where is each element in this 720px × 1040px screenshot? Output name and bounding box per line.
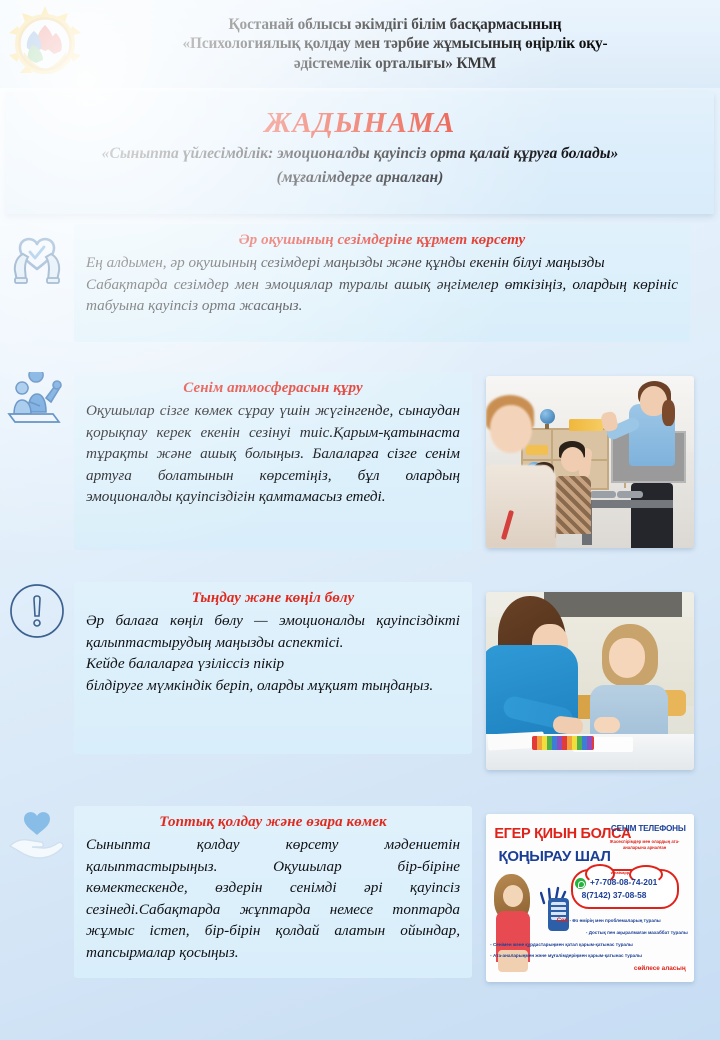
memo-title-band: ЖАДЫНАМА «Сыныпта үйлесімділік: эмоциона… [6, 92, 714, 214]
card-body: Сыныпта қолдау көрсету мәдениетін қалыпт… [86, 834, 460, 963]
poster-bullet-3: - Сенімен және құрдастарыңмен қатал қары… [490, 942, 633, 947]
exclamation-circle-icon-svg [8, 582, 66, 640]
card-paragraph: Әр балаға көңіл бөлу — эмоционалды қауіп… [86, 610, 460, 653]
card-body: Оқушылар сізге көмек сұрау үшін жүгінген… [86, 400, 460, 508]
classroom-high-five-photo [486, 376, 694, 548]
poster-whatsapp-tag: whatsapp [611, 870, 629, 875]
poster-closing: сөйлесе аласың [634, 965, 686, 972]
card-listening-attention: Тыңдау және көңіл бөлу Әр балаға көңіл б… [74, 582, 472, 754]
section-listening-attention: Тыңдау және көңіл бөлу Әр балаға көңіл б… [0, 582, 720, 770]
heart-on-hand-icon-svg [6, 806, 68, 862]
regional-education-center-logo [6, 5, 84, 83]
header-line-1: Қостанай облысы әкімдігі білім басқармас… [86, 15, 704, 35]
poster-trust-phone-label: СЕНІМ ТЕЛЕФОНЫ [611, 824, 686, 833]
card-trust-atmosphere: Сенім атмосферасын құру Оқушылар сізге к… [74, 372, 472, 550]
heart-in-hands-icon [0, 224, 74, 286]
trust-phone-poster: ЕГЕР ҚИЫН БОЛСА ҚОҢЫРАУ ШАЛ СЕНІМ ТЕЛЕФО… [486, 814, 694, 982]
card-title: Сенім атмосферасын құру [86, 379, 460, 398]
teacher-with-girl-photo [486, 592, 694, 770]
page-subtitle-line-1: «Сыныпта үйлесімділік: эмоционалды қауіп… [6, 143, 714, 164]
heart-on-hand-icon [0, 806, 74, 862]
poster-phone-1: +7-708-08-74-201 [590, 877, 657, 887]
poster-bullet-2: - Достық пен ақыралмаған махаббат туралы [586, 930, 688, 935]
page-title: ЖАДЫНАМА [6, 106, 714, 140]
section-trust-atmosphere: Сенім атмосферасын құру Оқушылар сізге к… [0, 372, 720, 550]
poster-bullet-1: Сен - Өз өмірің мен проблемаларың туралы [557, 918, 661, 924]
mobile-phone-icon [548, 898, 569, 931]
poster-headline-blue: ҚОҢЫРАУ ШАЛ [498, 848, 610, 865]
poster-bullet-1-text: - Өз өмірің мен проблемаларың туралы [570, 918, 661, 923]
poster-trust-phone-sub: Жасөспірімдер мен олардың ата-аналарына … [606, 839, 684, 851]
students-raising-hand-icon [0, 372, 74, 428]
card-title: Тыңдау және көңіл бөлу [86, 589, 460, 608]
card-paragraph: Кейде балаларға үзіліссіз пікір [86, 653, 460, 675]
header-title-block: Қостанай облысы әкімдігі білім басқармас… [84, 15, 720, 74]
card-paragraph: білдіруге мүмкіндік беріп, оларды мұқият… [86, 675, 460, 697]
card-group-support: Топтық қолдау және өзара көмек Сыныпта қ… [74, 806, 472, 978]
card-body: Ең алдымен, әр оқушының сезімдері маңызд… [86, 252, 678, 317]
page-subtitle-line-2: (мұғалімдерге арналған) [6, 167, 714, 188]
exclamation-circle-icon [0, 582, 74, 640]
logo-svg [6, 5, 84, 83]
card-title: Әр оқушының сезімдеріне құрмет көрсету [86, 231, 678, 250]
poster-page: Қостанай облысы әкімдігі білім басқармас… [0, 0, 720, 1040]
poster-bullet-lead: Сен [557, 918, 568, 924]
card-paragraph: Сыныпта қолдау көрсету мәдениетін қалыпт… [86, 834, 460, 963]
students-raising-hand-icon-svg [6, 372, 68, 428]
card-paragraph: Сабақтарда сезімдер мен эмоциялар туралы… [86, 274, 678, 317]
header-line-2: «Психологиялық қолдау мен тәрбие жұмысын… [86, 34, 704, 54]
card-respect-feelings: Әр оқушының сезімдеріне құрмет көрсету Е… [74, 224, 690, 342]
card-title: Топтық қолдау және өзара көмек [86, 813, 460, 832]
section-respect-feelings: Әр оқушының сезімдеріне құрмет көрсету Е… [0, 224, 720, 342]
heart-in-hands-icon-svg [7, 224, 67, 286]
section-group-support: Топтық қолдау және өзара көмек Сыныпта қ… [0, 806, 720, 982]
page-header: Қостанай облысы әкімдігі білім басқармас… [0, 0, 720, 88]
header-line-3: әдістемелік орталығы» КММ [86, 54, 704, 74]
poster-phone-2: 8(7142) 37-08-58 [582, 890, 647, 900]
card-paragraph: Ең алдымен, әр оқушының сезімдері маңызд… [86, 252, 678, 274]
card-paragraph: Оқушылар сізге көмек сұрау үшін жүгінген… [86, 400, 460, 508]
card-body: Әр балаға көңіл бөлу — эмоционалды қауіп… [86, 610, 460, 696]
poster-bullet-4: - Ата-аналарыңмен және мұғалімдеріңмен қ… [490, 953, 642, 958]
